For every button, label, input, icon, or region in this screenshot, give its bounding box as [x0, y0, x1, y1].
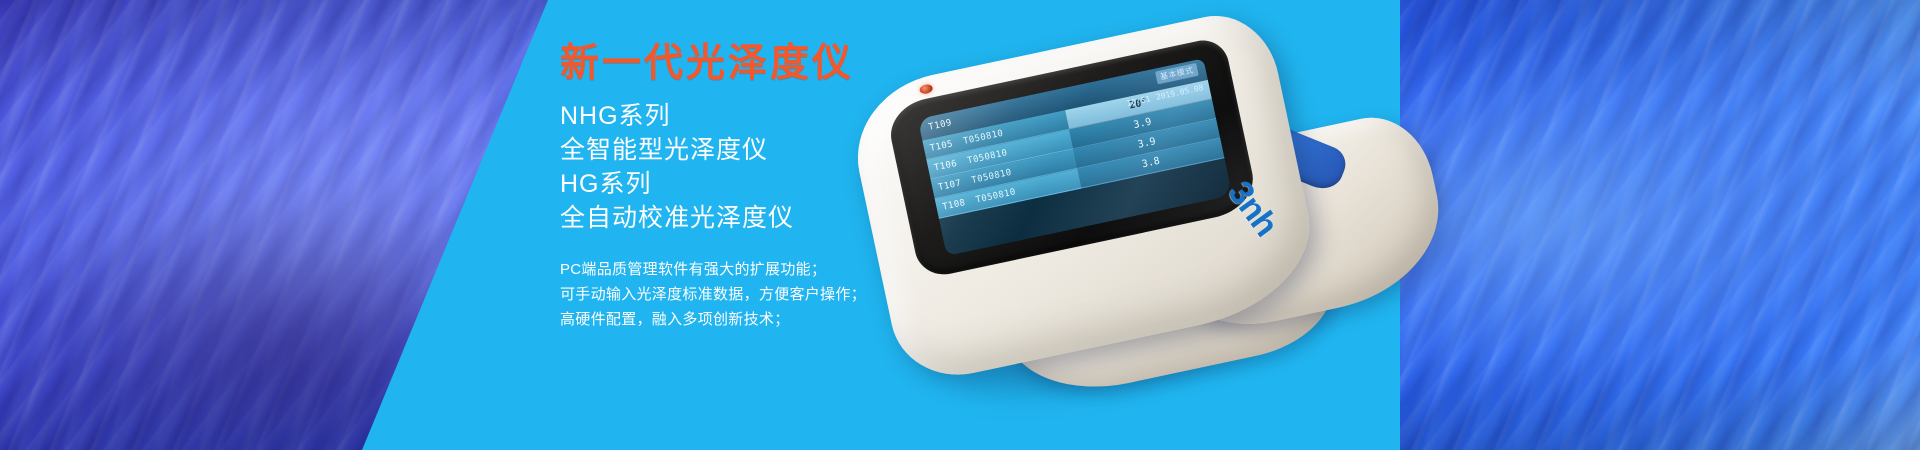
feature-line-3: 高硬件配置，融入多项创新技术； — [560, 307, 1030, 332]
product-banner: 新一代光泽度仪 NHG系列 全智能型光泽度仪 HG系列 全自动校准光泽度仪 PC… — [0, 0, 1920, 450]
subtitle-line-4: 全自动校准光泽度仪 — [560, 201, 1030, 235]
banner-headline: 新一代光泽度仪 — [560, 44, 1030, 85]
subtitle-line-2: 全智能型光泽度仪 — [560, 133, 1030, 167]
subtitle-line-1: NHG系列 — [560, 99, 1030, 133]
banner-text-block: 新一代光泽度仪 NHG系列 全智能型光泽度仪 HG系列 全自动校准光泽度仪 PC… — [560, 44, 1030, 332]
subtitle-line-3: HG系列 — [560, 167, 1030, 201]
banner-feature-list: PC端品质管理软件有强大的扩展功能； 可手动输入光泽度标准数据，方便客户操作； … — [560, 257, 1030, 332]
feature-line-1: PC端品质管理软件有强大的扩展功能； — [560, 257, 1030, 282]
banner-subtitle-list: NHG系列 全智能型光泽度仪 HG系列 全自动校准光泽度仪 — [560, 99, 1030, 235]
feature-line-2: 可手动输入光泽度标准数据，方便客户操作； — [560, 282, 1030, 307]
